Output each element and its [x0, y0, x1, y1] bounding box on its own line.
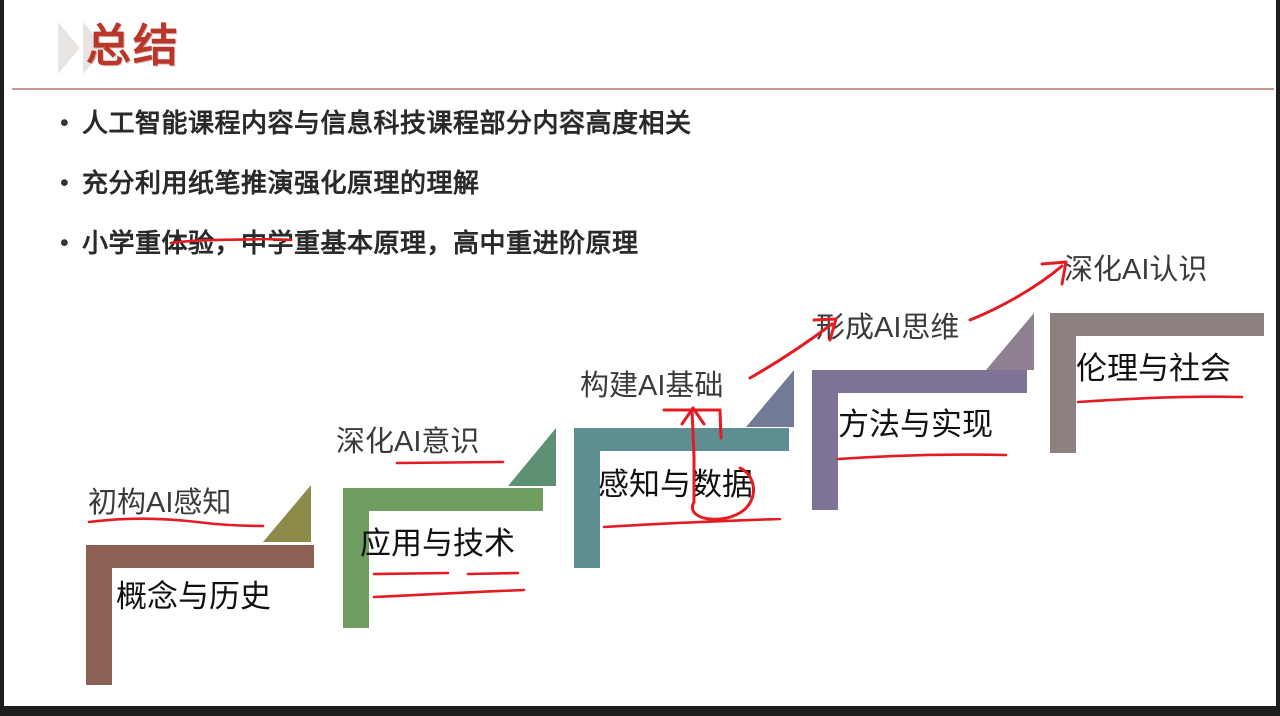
step-1-top-bar [86, 545, 314, 568]
step-5-riser-label: 伦理与社会 [1076, 350, 1231, 388]
step-5-top-label: 深化AI认识 [1064, 252, 1207, 288]
step-3-triangle [746, 370, 794, 427]
step-2-triangle [508, 428, 556, 486]
slide-canvas: 总结 • 人工智能课程内容与信息科技课程部分内容高度相关 • 充分利用纸笔推演强… [4, 0, 1280, 702]
step-4-triangle [986, 313, 1034, 370]
bullet-marker: • [60, 106, 82, 140]
step-4-top-label: 形成AI思维 [816, 310, 959, 346]
step-1-top-label: 初构AI感知 [88, 485, 231, 521]
bullet-text: 小学重体验，中学重基本原理，高中重进阶原理 [82, 226, 639, 260]
step-2-riser-label: 应用与技术 [360, 525, 515, 563]
bullet-text: 人工智能课程内容与信息科技课程部分内容高度相关 [82, 106, 692, 140]
step-2-top-label: 深化AI意识 [336, 424, 479, 460]
step-3-top-bar [574, 428, 789, 451]
slide: 总结 • 人工智能课程内容与信息科技课程部分内容高度相关 • 充分利用纸笔推演强… [0, 0, 1280, 716]
step-4-riser-label: 方法与实现 [838, 406, 993, 444]
step-5-top-bar [1050, 313, 1264, 336]
list-item: • 小学重体验，中学重基本原理，高中重进阶原理 [60, 226, 1210, 286]
list-item: • 充分利用纸笔推演强化原理的理解 [60, 166, 1210, 226]
ink-underline-step-2-top [395, 459, 505, 467]
bullet-marker: • [60, 226, 82, 260]
step-1-riser-label: 概念与历史 [116, 578, 271, 616]
step-3-top-label: 构建AI基础 [580, 368, 723, 404]
bullet-text: 充分利用纸笔推演强化原理的理解 [82, 166, 480, 200]
step-4-top-bar [812, 370, 1027, 393]
list-item: • 人工智能课程内容与信息科技课程部分内容高度相关 [60, 106, 1210, 166]
title-divider [12, 88, 1274, 90]
step-3-riser-label: 感知与数据 [598, 466, 753, 504]
page-title: 总结 [86, 18, 180, 74]
step-1-triangle [263, 485, 311, 542]
step-2-top-bar [343, 488, 543, 511]
bullet-marker: • [60, 166, 82, 200]
bullet-list: • 人工智能课程内容与信息科技课程部分内容高度相关 • 充分利用纸笔推演强化原理… [60, 106, 1210, 286]
